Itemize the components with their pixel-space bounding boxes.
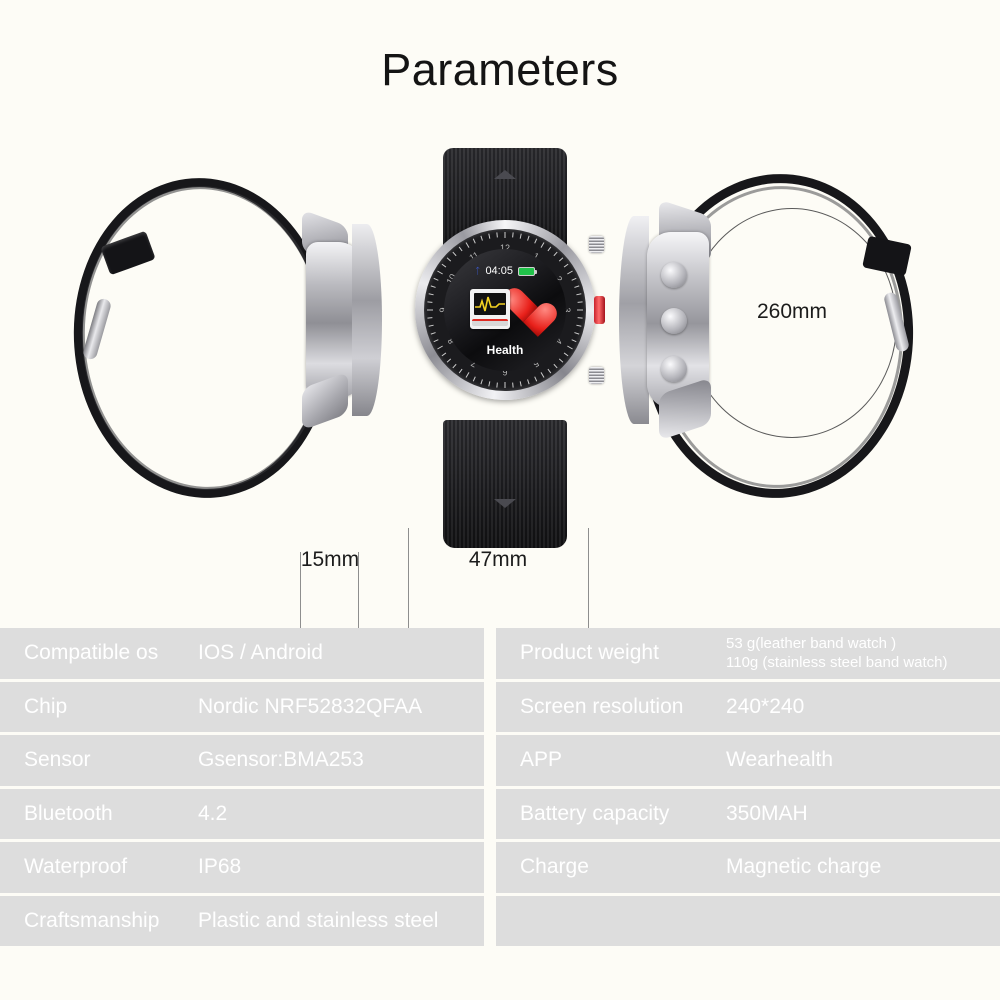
table-row: Compatible osIOS / Android	[0, 628, 484, 679]
spec-value: Magnetic charge	[726, 855, 1000, 879]
spec-value: IP68	[198, 855, 484, 879]
watch-case-side	[300, 220, 376, 420]
monitor-base	[472, 319, 508, 326]
table-row: Product weight53 g(leather band watch ) …	[496, 628, 1000, 679]
spec-value: Wearhealth	[726, 748, 1000, 772]
status-bar: ᛏ 04:05	[444, 265, 566, 277]
spec-key: Chip	[0, 695, 198, 719]
table-row: Bluetooth4.2	[0, 789, 484, 840]
pusher-button-middle[interactable]	[661, 308, 687, 334]
chevron-down-icon	[494, 499, 516, 508]
spec-value: 350MAH	[726, 802, 1000, 826]
band-lower	[443, 420, 567, 548]
table-row: Screen resolution240*240	[496, 682, 1000, 733]
battery-icon	[518, 267, 535, 276]
spec-value: IOS / Android	[198, 641, 484, 665]
spec-key: Waterproof	[0, 855, 198, 879]
crown-bottom-button[interactable]	[589, 367, 604, 384]
spec-row-empty	[496, 896, 1000, 947]
product-illustration: 1 2 3 4 5 6 7 8 9 10 11 12	[0, 120, 1000, 620]
watch-screen[interactable]: ᛏ 04:05	[444, 249, 566, 371]
watch-time: 04:05	[485, 265, 513, 277]
table-row: ChargeMagnetic charge	[496, 842, 1000, 893]
heart-icon	[504, 289, 544, 325]
watch-bezel: 1 2 3 4 5 6 7 8 9 10 11 12	[415, 220, 595, 400]
spec-key: Screen resolution	[496, 695, 726, 719]
table-row: SensorGsensor:BMA253	[0, 735, 484, 786]
table-row: Battery capacity350MAH	[496, 789, 1000, 840]
watch-case-side-right	[623, 210, 713, 430]
watch-right-side-view: 260mm	[615, 160, 955, 520]
table-row: WaterproofIP68	[0, 842, 484, 893]
crown-top-button[interactable]	[589, 236, 604, 253]
spec-key: Battery capacity	[496, 802, 726, 826]
pusher-button-top[interactable]	[661, 262, 687, 288]
spec-key: Compatible os	[0, 641, 198, 665]
chevron-up-icon	[494, 170, 516, 179]
spec-value: Gsensor:BMA253	[198, 748, 484, 772]
watch-front-view: 1 2 3 4 5 6 7 8 9 10 11 12	[415, 148, 595, 548]
specifications-table: Compatible osIOS / AndroidChipNordic NRF…	[0, 628, 1000, 946]
spec-value: 240*240	[726, 695, 1000, 719]
pusher-button-bottom[interactable]	[661, 356, 687, 382]
crown-red-button[interactable]	[594, 296, 605, 324]
page-title: Parameters	[0, 44, 1000, 96]
spec-value: Nordic NRF52832QFAA	[198, 695, 484, 719]
bluetooth-icon: ᛏ	[475, 267, 480, 276]
ecg-waveform	[474, 293, 506, 315]
spec-key: Craftsmanship	[0, 909, 198, 933]
case-back-edge	[619, 216, 649, 424]
spec-value: 4.2	[198, 802, 484, 826]
table-row: ChipNordic NRF52832QFAA	[0, 682, 484, 733]
case-front-edge	[352, 224, 382, 416]
spec-key: Sensor	[0, 748, 198, 772]
ecg-monitor-icon	[470, 289, 510, 329]
dimension-band-width: 15mm	[266, 548, 394, 572]
spec-key: Product weight	[496, 641, 726, 665]
spec-key: Charge	[496, 855, 726, 879]
spec-key: Bluetooth	[0, 802, 198, 826]
circumference-label: 260mm	[687, 300, 897, 324]
bezel-tick-ring: 1 2 3 4 5 6 7 8 9 10 11 12	[424, 229, 586, 391]
spec-value: 53 g(leather band watch ) 110g (stainles…	[726, 634, 1000, 672]
spec-value: Plastic and stainless steel	[198, 909, 484, 933]
app-label: Health	[444, 343, 566, 357]
heart-ecg-monitor-icon	[466, 285, 546, 331]
dimension-case-diameter: 47mm	[434, 548, 562, 572]
watch-left-side-view	[62, 160, 392, 520]
table-row: CraftsmanshipPlastic and stainless steel	[0, 896, 484, 947]
spec-column-right: Product weight53 g(leather band watch ) …	[496, 628, 1000, 946]
spec-column-left: Compatible osIOS / AndroidChipNordic NRF…	[0, 628, 484, 946]
table-row: APPWearhealth	[496, 735, 1000, 786]
spec-key: APP	[496, 748, 726, 772]
